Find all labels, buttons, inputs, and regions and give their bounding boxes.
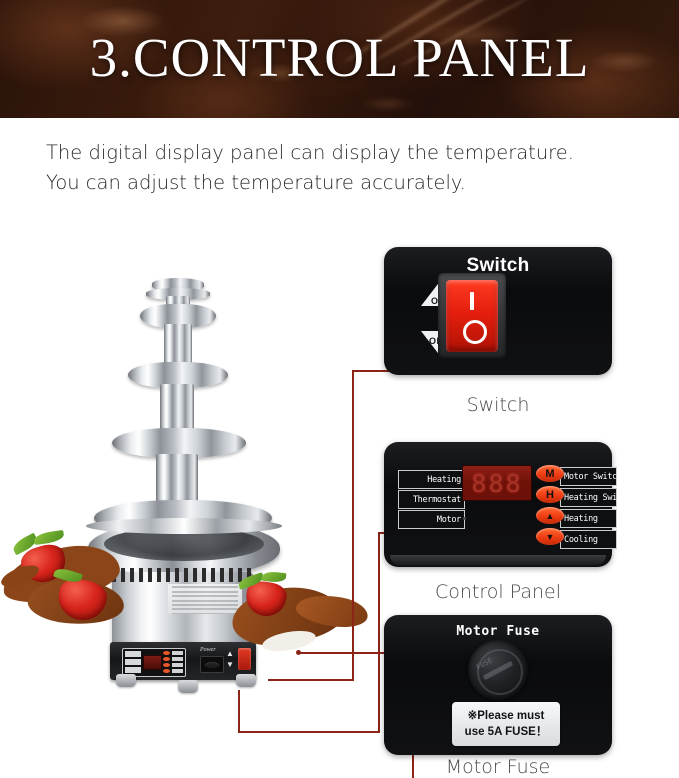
- subtitle-line-2: You can adjust the temperature accuratel…: [46, 168, 646, 198]
- base-mini-display: [143, 655, 162, 670]
- base-power-label: Power: [200, 647, 216, 653]
- fountain-column: [164, 324, 192, 366]
- subtitle-block: The digital display panel can display th…: [46, 138, 646, 198]
- cp-label-cooling: Cooling: [560, 530, 617, 549]
- base-power-socket: [200, 656, 224, 673]
- connector-line-switch-base: [268, 679, 354, 681]
- base-mini-buttons[interactable]: [163, 651, 170, 675]
- cp-label-thermostat: Thermostat: [398, 490, 465, 509]
- power-on-symbol-icon: [470, 292, 474, 310]
- control-panel[interactable]: Heating Thermostat Motor Motor Switch He…: [384, 442, 612, 567]
- connector-line-switch: [352, 370, 392, 372]
- caption-motor-fuse: Motor Fuse: [368, 756, 628, 778]
- fountain-base-crown-trim: [112, 568, 254, 582]
- base-mini-left-labels: [125, 651, 141, 675]
- infographic-page: 3.CONTROL PANEL The digital display pane…: [0, 0, 679, 778]
- base-mini-control-panel[interactable]: [122, 648, 186, 677]
- fountain-foot: [178, 680, 198, 693]
- control-panel-base-trim: [390, 555, 606, 565]
- caption-control-panel: Control Panel: [368, 581, 628, 603]
- cp-label-heating: Heating: [560, 509, 617, 528]
- cp-label-motor-switch: Motor Switch: [560, 467, 617, 486]
- motor-fuse-panel-title: Motor Fuse: [384, 624, 612, 639]
- fuse-warning-line-2: use 5A FUSE！: [465, 724, 548, 740]
- cp-label-heating: Heating: [398, 470, 465, 489]
- connector-line-control: [378, 532, 380, 732]
- connector-endpoint: [296, 650, 301, 655]
- led-indicator: [463, 517, 466, 520]
- base-red-switch[interactable]: [238, 648, 251, 670]
- fuse-cap-icon[interactable]: [468, 640, 528, 700]
- base-mini-right-labels: [172, 651, 183, 675]
- cp-label-heating-switch: Heating Switch: [560, 488, 617, 507]
- fountain-base-label: [168, 584, 242, 614]
- connector-line-fuse: [300, 652, 386, 654]
- product-photo: Power ▲▼: [0, 250, 380, 760]
- subtitle-line-1: The digital display panel can display th…: [46, 138, 646, 168]
- strawberry-leaf: [33, 530, 64, 545]
- fountain-basin-lip: [86, 518, 282, 534]
- button-mode-h[interactable]: H: [536, 486, 564, 503]
- connector-line-control-base: [238, 690, 240, 732]
- power-off-symbol-icon: [463, 320, 487, 344]
- fountain-foot: [236, 674, 256, 687]
- digital-display: 888: [462, 465, 532, 501]
- button-increase-up-icon[interactable]: ▲: [536, 507, 564, 524]
- base-arrow-icons: ▲▼: [226, 648, 234, 670]
- button-decrease-down-icon[interactable]: ▼: [536, 528, 564, 545]
- fuse-warning-sticker: ※Please must use 5A FUSE！: [452, 702, 560, 746]
- caption-switch: Switch: [368, 394, 628, 416]
- fuse-warning-line-1: ※Please must: [468, 708, 545, 724]
- fountain-column: [160, 384, 194, 432]
- page-title: 3.CONTROL PANEL: [0, 28, 679, 88]
- rocker-switch[interactable]: [446, 280, 498, 352]
- header-banner: 3.CONTROL PANEL: [0, 0, 679, 118]
- display-value: 888: [471, 471, 522, 496]
- cp-label-motor: Motor: [398, 510, 465, 529]
- connector-line-switch: [352, 370, 354, 680]
- button-mode-m[interactable]: M: [536, 465, 564, 482]
- connector-line-control-base: [238, 731, 380, 733]
- fountain-foot: [116, 674, 136, 687]
